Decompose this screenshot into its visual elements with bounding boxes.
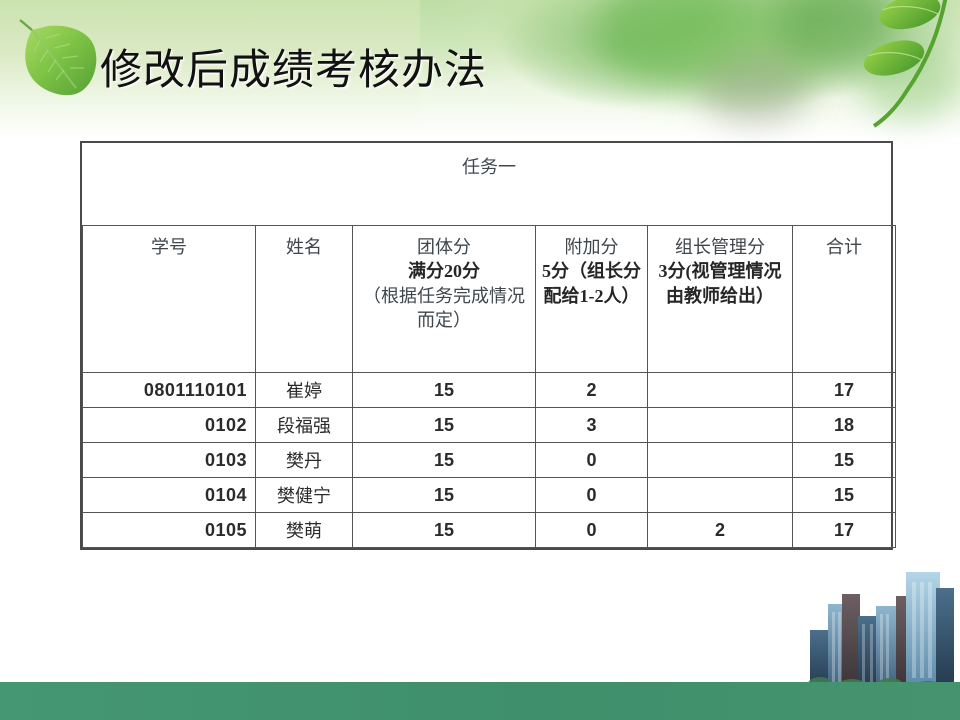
- cell-student-id: 0801110101: [83, 373, 256, 408]
- column-header-name-label: 姓名: [256, 235, 352, 259]
- grade-table: 任务一 学号 姓名 团体分 满分20分 （根据任务完成情况而定）: [82, 143, 896, 548]
- cell-student-name: 崔婷: [256, 373, 353, 408]
- table-caption-row: 任务一: [83, 143, 896, 226]
- column-header-id-label: 学号: [83, 235, 255, 259]
- cell-student-name: 樊健宁: [256, 478, 353, 513]
- column-header-lead-sub1: 3分(视管理情况由教师给出）: [648, 259, 792, 308]
- cell-student-id: 0105: [83, 513, 256, 548]
- cell-total-score: 18: [793, 408, 896, 443]
- cell-extra-score: 0: [536, 478, 648, 513]
- table-row: 0103 樊丹 15 0 15: [83, 443, 896, 478]
- column-header-team-label: 团体分: [353, 235, 535, 259]
- cell-student-name: 樊萌: [256, 513, 353, 548]
- column-header-lead: 组长管理分 3分(视管理情况由教师给出）: [648, 226, 793, 373]
- table-row: 0102 段福强 15 3 18: [83, 408, 896, 443]
- cell-extra-score: 2: [536, 373, 648, 408]
- cell-team-score: 15: [353, 408, 536, 443]
- cell-total-score: 17: [793, 373, 896, 408]
- cell-total-score: 15: [793, 478, 896, 513]
- city-skyline-image: [800, 558, 960, 690]
- grade-table-container: 任务一 学号 姓名 团体分 满分20分 （根据任务完成情况而定）: [80, 141, 893, 550]
- column-header-extra-label: 附加分: [536, 235, 647, 259]
- cell-student-name: 樊丹: [256, 443, 353, 478]
- column-header-lead-label: 组长管理分: [648, 235, 792, 259]
- column-header-extra-sub1: 5分（组长分配给1-2人）: [536, 259, 647, 308]
- cell-team-score: 15: [353, 478, 536, 513]
- column-header-team: 团体分 满分20分 （根据任务完成情况而定）: [353, 226, 536, 373]
- cell-total-score: 15: [793, 443, 896, 478]
- cell-team-score: 15: [353, 513, 536, 548]
- table-row: 0105 樊萌 15 0 2 17: [83, 513, 896, 548]
- cell-extra-score: 0: [536, 513, 648, 548]
- table-header-row: 学号 姓名 团体分 满分20分 （根据任务完成情况而定） 附加分 5分（组长分配…: [83, 226, 896, 373]
- column-header-total-label: 合计: [793, 235, 895, 259]
- table-row: 0801110101 崔婷 15 2 17: [83, 373, 896, 408]
- cell-student-id: 0103: [83, 443, 256, 478]
- cell-total-score: 17: [793, 513, 896, 548]
- cell-leader-score: [648, 373, 793, 408]
- table-caption: 任务一: [83, 143, 896, 226]
- column-header-team-sub2: （根据任务完成情况而定）: [353, 284, 535, 333]
- cell-student-id: 0102: [83, 408, 256, 443]
- green-footer-bar: [0, 682, 960, 720]
- cell-student-name: 段福强: [256, 408, 353, 443]
- column-header-extra: 附加分 5分（组长分配给1-2人）: [536, 226, 648, 373]
- cell-leader-score: [648, 478, 793, 513]
- vine-leaves-icon: [860, 0, 960, 128]
- cell-team-score: 15: [353, 373, 536, 408]
- background-branch-blur: [700, 55, 810, 125]
- cell-leader-score: [648, 408, 793, 443]
- column-header-total: 合计: [793, 226, 896, 373]
- slide-canvas: 修改后成绩考核办法 任务一 学号 姓名 团: [0, 0, 960, 720]
- column-header-team-sub1: 满分20分: [353, 259, 535, 283]
- column-header-name: 姓名: [256, 226, 353, 373]
- table-row: 0104 樊健宁 15 0 15: [83, 478, 896, 513]
- leaf-icon: [14, 18, 110, 106]
- cell-team-score: 15: [353, 443, 536, 478]
- cell-extra-score: 3: [536, 408, 648, 443]
- cell-leader-score: [648, 443, 793, 478]
- cell-leader-score: 2: [648, 513, 793, 548]
- cell-extra-score: 0: [536, 443, 648, 478]
- cell-student-id: 0104: [83, 478, 256, 513]
- column-header-id: 学号: [83, 226, 256, 373]
- page-title: 修改后成绩考核办法: [100, 36, 487, 97]
